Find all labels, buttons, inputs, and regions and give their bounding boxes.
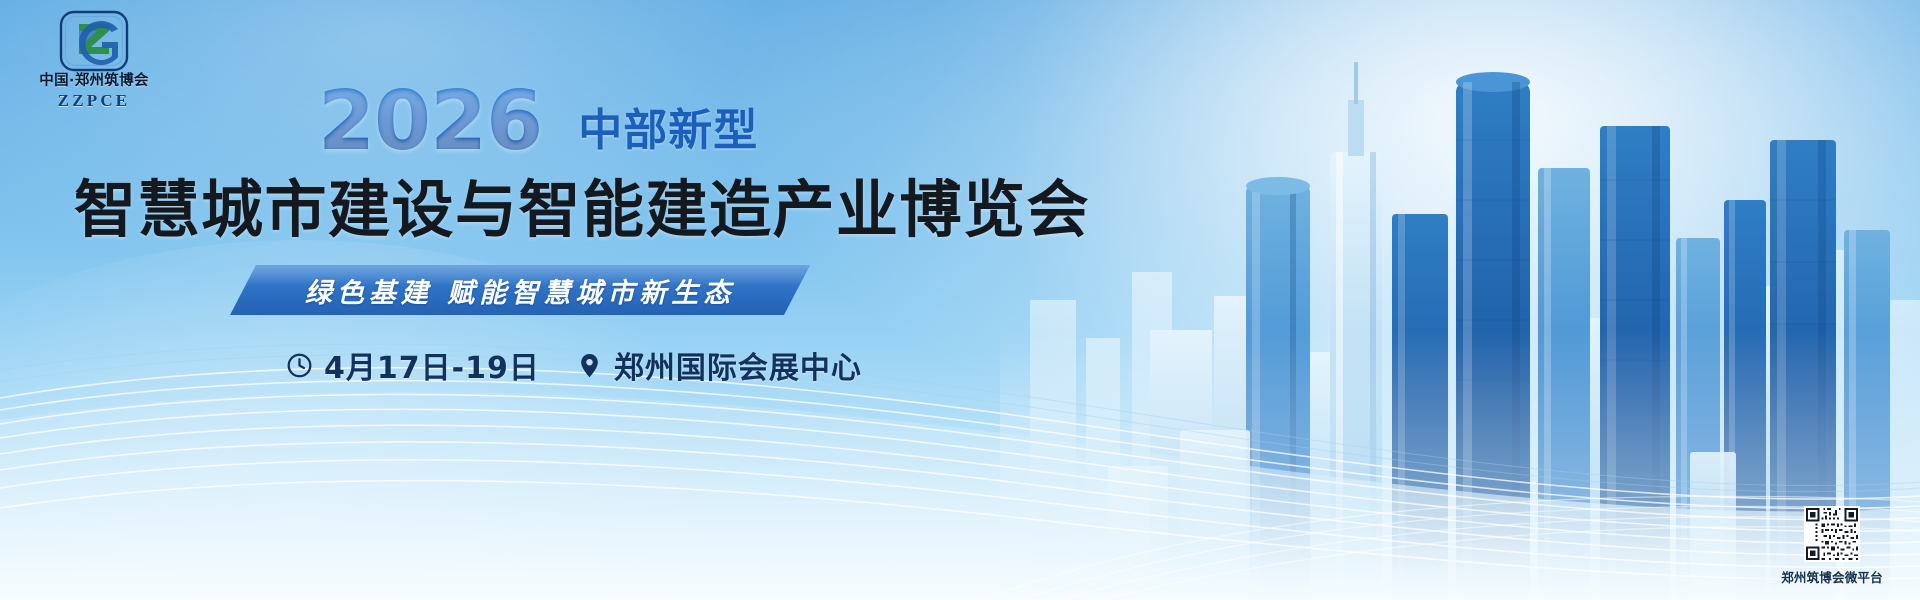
event-banner: 中国·郑州筑博会 ZZPCE 2026 中部新型 智慧城市建设与智能建造产业博览… bbox=[0, 0, 1920, 600]
qr-code-icon bbox=[1804, 506, 1860, 562]
event-venue-text: 郑州国际会展中心 bbox=[614, 343, 862, 387]
event-date-text: 4月17日-19日 bbox=[324, 343, 540, 387]
event-venue-item: 郑州国际会展中心 bbox=[576, 343, 862, 387]
slogan-ribbon: 绿色基建 赋能智慧城市新生态 bbox=[230, 265, 810, 315]
year-row: 2026 中部新型 bbox=[318, 84, 758, 159]
location-pin-icon bbox=[576, 352, 603, 379]
event-date-item: 4月17日-19日 bbox=[286, 343, 540, 387]
event-subtype: 中部新型 bbox=[578, 109, 758, 159]
headline-block: 2026 中部新型 智慧城市建设与智能建造产业博览会 绿色基建 赋能智慧城市新生… bbox=[0, 0, 1100, 600]
qr-block[interactable]: 郑州筑博会微平台 bbox=[1766, 506, 1898, 586]
event-info-row: 4月17日-19日 郑州国际会展中心 bbox=[286, 343, 862, 387]
page-title: 智慧城市建设与智能建造产业博览会 bbox=[74, 178, 1090, 242]
clock-icon bbox=[286, 352, 313, 379]
qr-caption: 郑州筑博会微平台 bbox=[1766, 567, 1898, 586]
slogan-text: 绿色基建 赋能智慧城市新生态 bbox=[230, 265, 810, 315]
event-year: 2026 bbox=[318, 84, 542, 159]
